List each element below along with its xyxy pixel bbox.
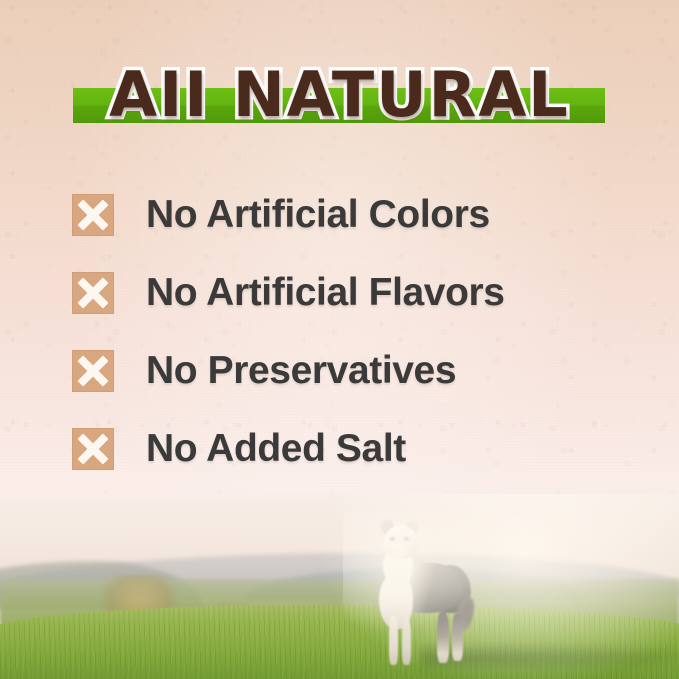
dog-front-leg-right [402, 617, 411, 665]
dog-front-leg-left [389, 615, 398, 665]
list-item: No Artificial Colors [0, 176, 679, 254]
x-mark-icon [72, 194, 114, 236]
headline-banner: AII NATURAL [0, 52, 679, 138]
product-feature-poster: AII NATURAL No Artificial Colors No Arti… [0, 0, 679, 679]
benefit-label-no-artificial-colors: No Artificial Colors [146, 193, 490, 237]
benefit-label-no-preservatives: No Preservatives [146, 349, 456, 393]
x-mark-icon [72, 350, 114, 392]
x-mark-icon [72, 428, 114, 470]
x-mark-icon [72, 272, 114, 314]
headline-text: AII NATURAL [0, 52, 679, 138]
benefits-list: No Artificial Colors No Artificial Flavo… [0, 176, 679, 488]
list-item: No Artificial Flavors [0, 254, 679, 332]
dog-eye-right [404, 537, 409, 541]
list-item: No Preservatives [0, 332, 679, 410]
dog-back-leg-right [452, 613, 463, 661]
list-item: No Added Salt [0, 410, 679, 488]
dog-eye-left [390, 537, 395, 541]
dog-illustration [357, 519, 475, 671]
landscape-photo [0, 494, 679, 679]
benefit-label-no-added-salt: No Added Salt [146, 427, 406, 471]
benefit-label-no-artificial-flavors: No Artificial Flavors [146, 271, 505, 315]
dog-back-leg-left [437, 611, 449, 663]
dog-muzzle [390, 543, 408, 559]
